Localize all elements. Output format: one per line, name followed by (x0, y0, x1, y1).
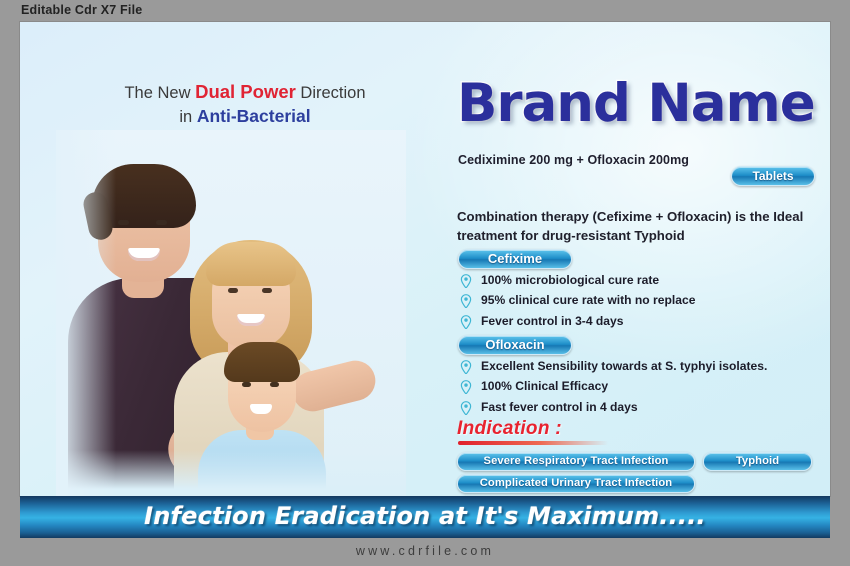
child-hair (224, 342, 300, 382)
father-eye-left (118, 220, 129, 225)
headline-line1-post: Direction (296, 84, 366, 102)
indication-heading: Indication : (457, 418, 562, 440)
father-smile (128, 248, 160, 261)
headline-accent-anti-bacterial: Anti-Bacterial (197, 106, 311, 126)
mother-hair-front (206, 242, 296, 286)
indication-item-respiratory: Severe Respiratory Tract Infection (457, 452, 695, 471)
cefixime-bullet-list: 100% microbiological cure rate 95% clini… (457, 274, 817, 335)
map-pin-icon (460, 315, 472, 329)
map-pin-icon (460, 294, 472, 308)
brand-composition: Cediximine 200 mg + Ofloxacin 200mg (458, 153, 689, 167)
brand-name: Brand Name (457, 77, 825, 130)
map-pin-icon (460, 360, 472, 374)
list-item: Excellent Sensibility towards at S. typh… (457, 360, 817, 374)
window-title: Editable Cdr X7 File (21, 3, 142, 17)
footer-url: www.cdrfile.com (0, 540, 850, 566)
list-item-label: Excellent Sensibility towards at S. typh… (481, 359, 767, 373)
child-eye-left (242, 382, 251, 387)
list-item-label: 95% clinical cure rate with no replace (481, 293, 695, 307)
list-item: Fast fever control in 4 days (457, 401, 817, 415)
list-item-label: Fast fever control in 4 days (481, 400, 638, 414)
photo-left-fade (56, 130, 116, 496)
combination-statement: Combination therapy (Cefixime + Ofloxaci… (457, 207, 809, 245)
list-item: 100% microbiological cure rate (457, 274, 817, 288)
map-pin-icon (460, 380, 472, 394)
child-smile (250, 404, 272, 414)
list-item-label: Fever control in 3-4 days (481, 314, 624, 328)
list-item: Fever control in 3-4 days (457, 315, 817, 329)
headline-line2-pre: in (179, 108, 196, 126)
poster-artboard: The New Dual Power Direction in Anti-Bac… (20, 22, 830, 496)
list-item: 100% Clinical Efficacy (457, 380, 817, 394)
section-badge-cefixime: Cefixime (458, 249, 572, 269)
headline-accent-dual-power: Dual Power (195, 81, 296, 102)
poster-content-column: Brand Name Cediximine 200 mg + Ofloxacin… (435, 22, 830, 496)
list-item: 95% clinical cure rate with no replace (457, 294, 817, 308)
map-pin-icon (460, 274, 472, 288)
list-item-label: 100% Clinical Efficacy (481, 379, 608, 393)
section-badge-ofloxacin: Ofloxacin (458, 335, 572, 355)
family-photo (56, 130, 406, 496)
window-titlebar: Editable Cdr X7 File (0, 0, 850, 22)
indication-item-urinary: Complicated Urinary Tract Infection (457, 474, 695, 493)
child-eye-right (270, 382, 279, 387)
mother-eye-right (262, 288, 272, 293)
map-pin-icon (460, 401, 472, 415)
bottom-banner: Infection Eradication at It's Maximum...… (20, 496, 830, 538)
list-item-label: 100% microbiological cure rate (481, 273, 659, 287)
headline-line1-pre: The New (124, 84, 195, 102)
father-eye-right (156, 220, 167, 225)
indication-item-typhoid: Typhoid (703, 452, 812, 471)
ofloxacin-bullet-list: Excellent Sensibility towards at S. typh… (457, 360, 817, 421)
indication-underline (458, 441, 608, 445)
poster-headline: The New Dual Power Direction in Anti-Bac… (80, 80, 410, 129)
dosage-form-badge: Tablets (731, 166, 815, 186)
mother-smile (237, 314, 265, 326)
mother-eye-left (228, 288, 238, 293)
banner-tagline: Infection Eradication at It's Maximum...… (20, 502, 830, 530)
